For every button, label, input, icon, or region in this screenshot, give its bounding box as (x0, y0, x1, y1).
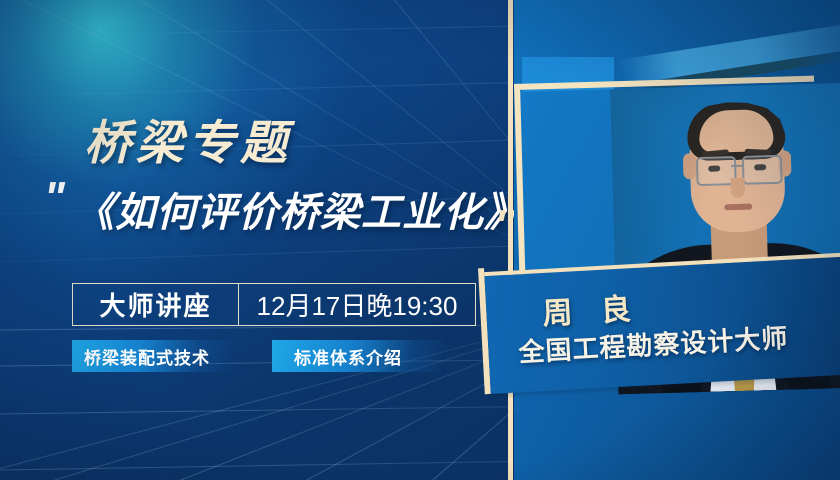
lecture-label-cell: 大师讲座 (73, 284, 239, 325)
nameplate-surface: 周 良 全国工程勘察设计大师 (484, 253, 840, 394)
subtitle-row: " 《如何评价桥梁工业化》 " (44, 172, 524, 242)
poster-root: 桥梁专题 " 《如何评价桥梁工业化》 " 大师讲座 12月17日晚19:30 桥… (0, 0, 840, 480)
topic-tag-2: 标准体系介绍 (272, 340, 444, 372)
topic-tag-1: 桥梁装配式技术 (72, 340, 232, 372)
page-subtitle: 《如何评价桥梁工业化》 (74, 180, 525, 238)
right-composition: 周 良 全国工程勘察设计大师 (470, 0, 840, 480)
lecture-datetime-cell: 12月17日晚19:30 (239, 284, 475, 325)
lecture-datetime: 12月17日晚19:30 (257, 286, 458, 323)
lecture-label: 大师讲座 (99, 286, 211, 323)
topic-tag-1-label: 桥梁装配式技术 (84, 344, 210, 369)
topic-tag-2-label: 标准体系介绍 (294, 344, 402, 369)
lecture-info-box: 大师讲座 12月17日晚19:30 (72, 283, 476, 326)
page-title: 桥梁专题 (84, 104, 292, 173)
quote-open-icon: " (44, 176, 63, 220)
speaker-nameplate: 周 良 全国工程勘察设计大师 (484, 253, 840, 412)
left-content: 桥梁专题 " 《如何评价桥梁工业化》 " 大师讲座 12月17日晚19:30 桥… (0, 0, 520, 480)
